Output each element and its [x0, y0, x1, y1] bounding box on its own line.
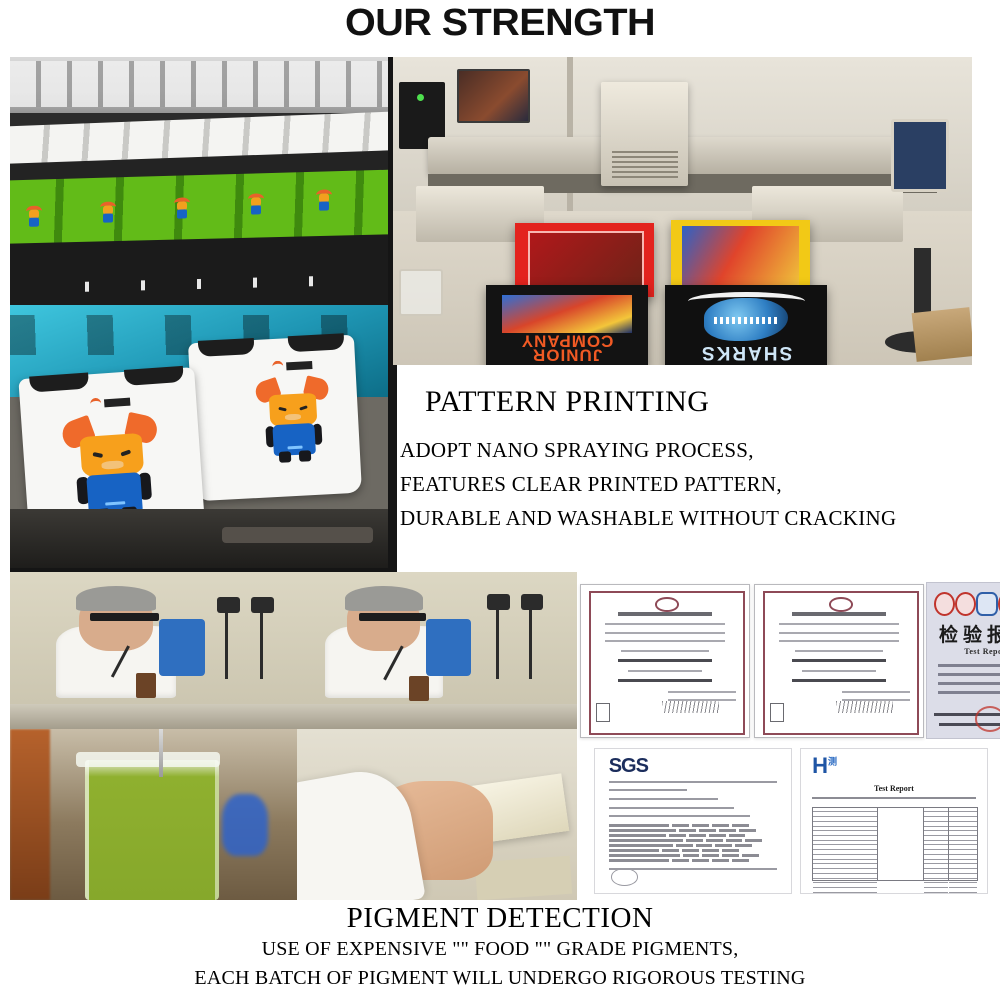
beaker-with-green-liquid: [85, 760, 219, 900]
printer-head-assembly: [601, 82, 688, 187]
printed-plate-yellow: [671, 220, 810, 294]
bull-mascot-print: [248, 193, 264, 215]
sgs-test-report: SGS: [594, 748, 792, 894]
bull-mascot-graphic: [64, 414, 163, 524]
h-report-title: Test Report: [801, 784, 987, 793]
h-test-report: H测 Test Report: [800, 748, 988, 894]
h-logo: H测: [812, 753, 837, 779]
pattern-printing-heading: PATTERN PRINTING: [425, 385, 998, 419]
certificate-seal-icon: [829, 597, 853, 612]
certificate-seal-icon: [655, 597, 679, 612]
brand-logo-small: [272, 359, 313, 373]
red-official-stamp-icon: [975, 706, 1000, 732]
lab-bench: [10, 704, 297, 729]
inspection-report-title-en: Test Report: [927, 647, 1000, 656]
lab-stand-rod: [225, 610, 228, 679]
background-blur-blue: [222, 794, 268, 855]
stirring-rod: [159, 729, 163, 777]
beaker-rim: [76, 752, 220, 767]
factory-wall: [10, 57, 388, 117]
junior-company-text: JUNIOR COMPANY: [499, 340, 635, 362]
green-pigment-beaker-scene: [10, 729, 297, 900]
pigment-detection-line-2: EACH BATCH OF PIGMENT WILL UNDERGO RIGOR…: [0, 964, 1000, 993]
certificate-badge-icon: [770, 703, 784, 722]
printer-tablet-screen: [457, 69, 530, 122]
signature-mark: [836, 701, 893, 713]
bull-mascot-print: [174, 197, 190, 219]
photo-lab-mid: [297, 572, 577, 900]
inspection-report-title-cn: 检验报告: [927, 620, 1000, 647]
technician-hair: [76, 586, 156, 611]
safety-glasses-icon: [359, 613, 426, 621]
photo-screen-printing-line: [10, 57, 397, 572]
ccc-logo-icon: [934, 592, 955, 616]
iso-certificate-english: [754, 584, 924, 738]
reagent-bottle: [409, 676, 429, 701]
bull-mascot-print: [316, 189, 332, 211]
cardboard-box: [912, 307, 972, 362]
background-blur-orange: [10, 729, 50, 900]
iso-certificate-chinese: [580, 584, 750, 738]
sgs-logo: SGS: [609, 755, 648, 778]
bull-mascot-print: [100, 201, 116, 223]
printed-plate-junior-company: JUNIOR COMPANY: [486, 285, 648, 365]
lab-stand-rod: [496, 607, 499, 679]
workshop-bucket: [399, 269, 444, 316]
white-tshirt-back: [188, 335, 362, 501]
photo-uv-flatbed-printer: JUNIOR COMPANY SHARKS: [393, 57, 972, 365]
bull-mascot-graphic: [256, 377, 330, 463]
technician-hair: [345, 586, 423, 611]
signature-mark: [662, 701, 719, 713]
pattern-printing-text-block: PATTERN PRINTING ADOPT NANO SPRAYING PRO…: [400, 385, 998, 535]
press-machine-base: [10, 509, 388, 568]
printer-control-panel: [891, 119, 949, 193]
sgs-seal-icon: [611, 868, 638, 886]
pigment-detection-line-1: USE OF EXPENSIVE "" FOOD "" GRADE PIGMEN…: [0, 935, 1000, 964]
blue-lab-equipment: [426, 619, 471, 676]
bull-mascot-print: [26, 205, 42, 227]
pattern-printing-line-2: FEATURES CLEAR PRINTED PATTERN,: [400, 467, 998, 501]
certification-logos: [934, 594, 1000, 614]
lab-stand-rod: [529, 607, 532, 679]
lab-stand-rod: [260, 610, 263, 679]
h-results-table: [812, 807, 978, 881]
certificates-and-reports-panel: 检验报告 Test Report SGS: [578, 572, 998, 900]
certificate-badge-icon: [596, 703, 610, 722]
page-title: OUR STRENGTH: [0, 2, 1000, 45]
pigment-detection-heading: PIGMENT DETECTION: [0, 902, 1000, 935]
sharks-text: SHARKS: [678, 343, 814, 363]
lab-scene-technician-mirrored: [297, 572, 577, 729]
photo-lab-left: [10, 572, 297, 900]
pigment-detection-caption: PIGMENT DETECTION USE OF EXPENSIVE "" FO…: [0, 900, 1000, 993]
lab-bench: [297, 704, 577, 729]
hand-holding-paper-scene: [297, 729, 577, 900]
printed-plate-sharks: SHARKS: [665, 285, 827, 365]
lab-scene-technician: [10, 572, 297, 729]
safety-glasses-icon: [90, 613, 159, 621]
reagent-bottle: [136, 673, 156, 698]
blue-lab-equipment: [159, 619, 205, 676]
infographic-page: OUR STRENGTH: [0, 0, 1000, 1000]
pattern-printing-line-3: DURABLE AND WASHABLE WITHOUT CRACKING: [400, 501, 998, 535]
brand-logo-small: [90, 395, 131, 410]
pattern-printing-line-1: ADOPT NANO SPRAYING PROCESS,: [400, 433, 998, 467]
blue-logo-icon: [976, 592, 997, 616]
a-mark-logo-icon: [955, 592, 976, 616]
inspection-test-report: 检验报告 Test Report: [926, 582, 1000, 739]
